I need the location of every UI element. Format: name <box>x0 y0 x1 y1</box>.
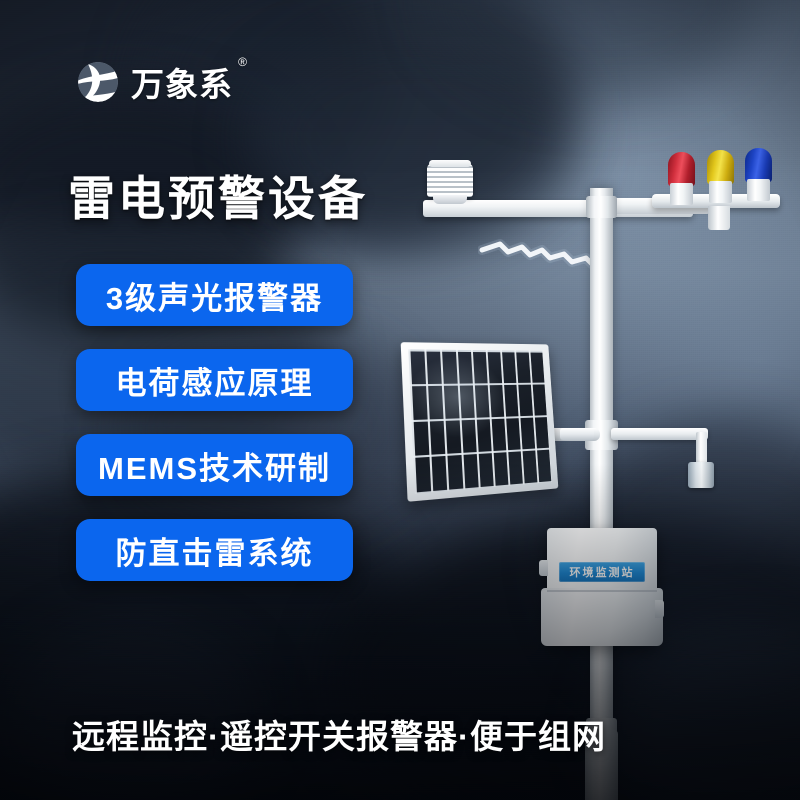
feature-pill-list: 3级声光报警器 电荷感应原理 MEMS技术研制 防直击雷系统 <box>76 264 353 581</box>
registered-trademark-icon: ® <box>238 55 248 69</box>
page-title: 雷电预警设备 <box>68 160 368 229</box>
brand-name-text: 万象系 <box>131 66 233 103</box>
swirl-sphere-logo-icon <box>74 58 122 106</box>
footer-tagline: 远程监控·遥控开关报警器·便于组网 <box>72 710 606 758</box>
brand-logo[interactable]: 万象系 ® <box>74 58 233 106</box>
feature-pill-1[interactable]: 3级声光报警器 <box>76 264 353 326</box>
feature-pill-4[interactable]: 防直击雷系统 <box>76 519 353 581</box>
feature-pill-2[interactable]: 电荷感应原理 <box>76 349 353 411</box>
product-poster: 环境监测站 万象系 ® 雷电预警设备 3级声光 <box>0 0 800 800</box>
brand-name: 万象系 ® <box>131 58 233 106</box>
feature-pill-3[interactable]: MEMS技术研制 <box>76 434 353 496</box>
